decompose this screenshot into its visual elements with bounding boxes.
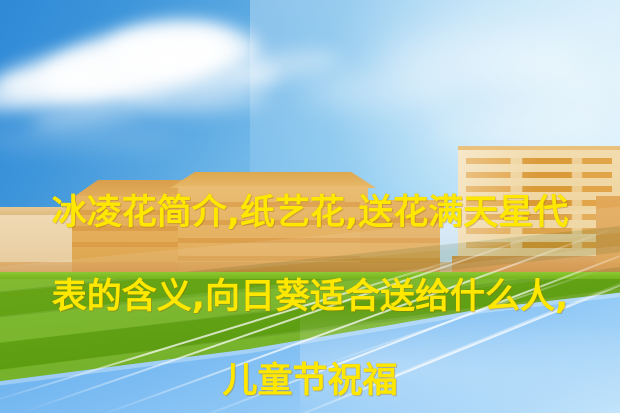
cloud-shape [430,110,610,150]
window-band [178,202,368,207]
window-band [72,210,190,215]
window-band [72,226,190,231]
window-band [178,220,368,225]
cloud-shape [380,30,580,90]
window-band [360,218,444,223]
image-canvas: 冰凌花简介,纸艺花,送花满天星代 表的含义,向日葵适合送给什么人, 儿童节祝福 [0,0,620,413]
window-band [72,242,190,247]
grass-horizon-edge [0,272,620,279]
